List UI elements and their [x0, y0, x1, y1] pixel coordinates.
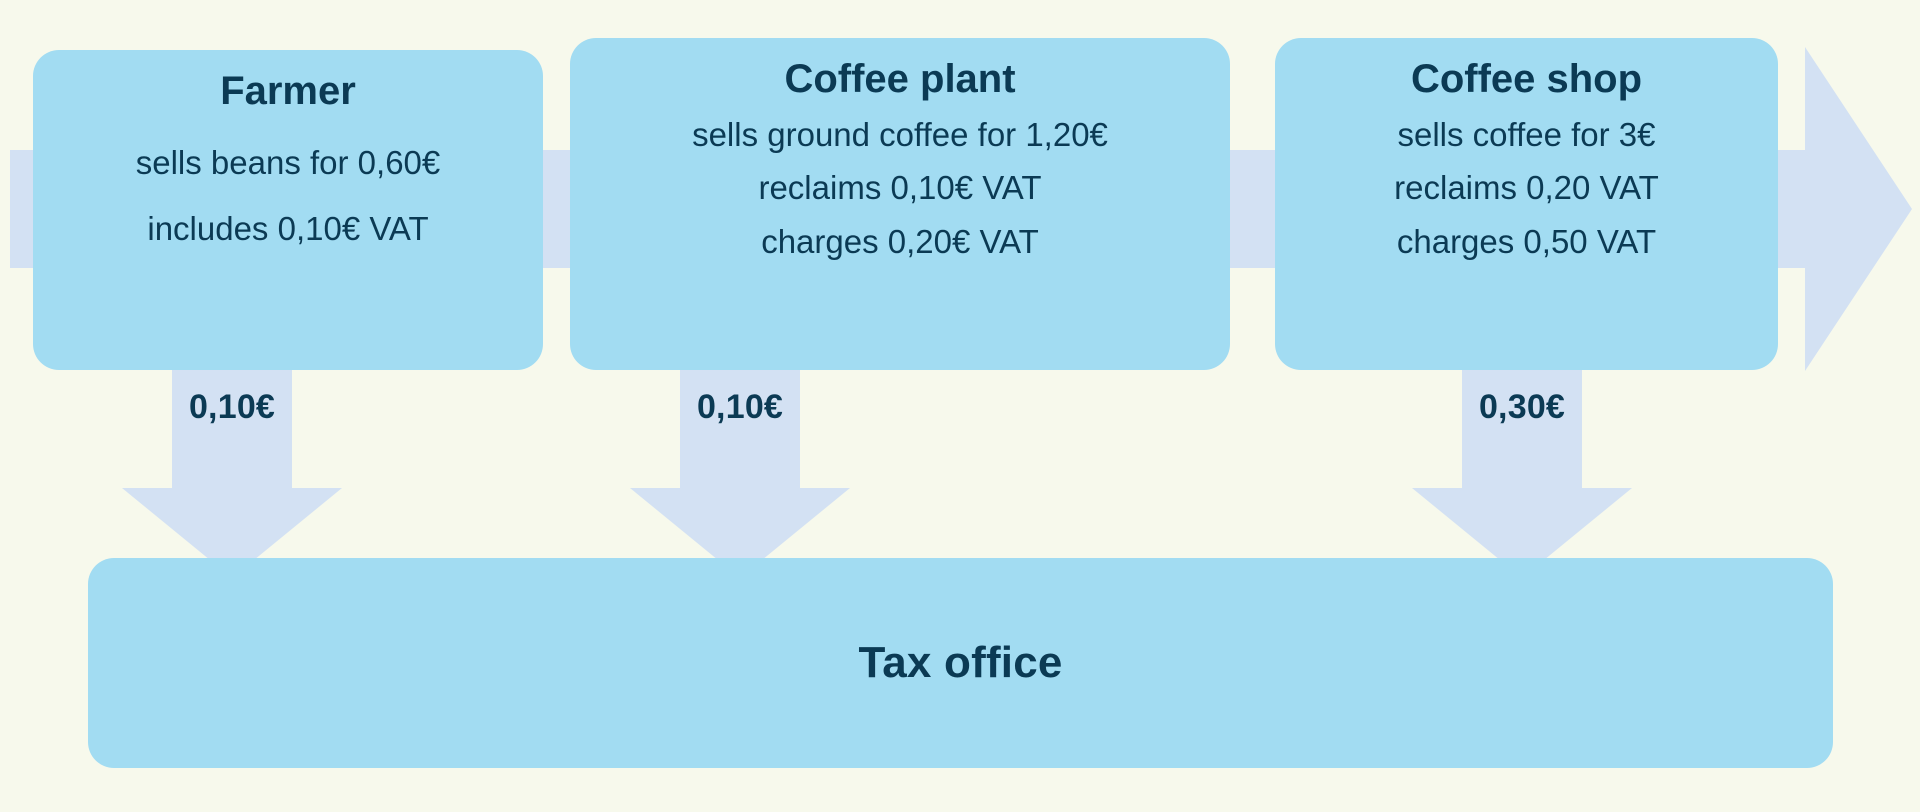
actor-detail-line: sells ground coffee for 1,20€ [692, 108, 1108, 161]
actor-detail-list-coffee-shop: sells coffee for 3€ reclaims 0,20 VAT ch… [1394, 108, 1659, 268]
tax-office-title: Tax office [858, 638, 1062, 688]
actor-title-coffee-shop: Coffee shop [1411, 52, 1642, 106]
vat-flow-diagram: 0,10€ 0,10€ 0,30€ Farmer sells beans for… [0, 0, 1920, 812]
actor-box-coffee-plant[interactable]: Coffee plant sells ground coffee for 1,2… [570, 38, 1230, 370]
tax-payment-amount-farmer: 0,10€ [122, 388, 342, 427]
actor-title-coffee-plant: Coffee plant [784, 52, 1015, 106]
tax-payment-arrow-coffee-shop: 0,30€ [1412, 370, 1632, 578]
tax-payment-arrow-farmer: 0,10€ [122, 370, 342, 578]
actor-detail-line: reclaims 0,20 VAT [1394, 161, 1659, 214]
tax-payment-amount-coffee-shop: 0,30€ [1412, 388, 1632, 427]
actor-box-coffee-shop[interactable]: Coffee shop sells coffee for 3€ reclaims… [1275, 38, 1778, 370]
tax-payment-arrow-coffee-plant: 0,10€ [630, 370, 850, 578]
actor-detail-line: includes 0,10€ VAT [147, 196, 428, 262]
actor-box-farmer[interactable]: Farmer sells beans for 0,60€ includes 0,… [33, 50, 543, 370]
actor-detail-list-farmer: sells beans for 0,60€ includes 0,10€ VAT [136, 130, 441, 262]
tax-payment-amount-coffee-plant: 0,10€ [630, 388, 850, 427]
actor-detail-line: sells beans for 0,60€ [136, 130, 441, 196]
actor-detail-line: charges 0,20€ VAT [761, 215, 1039, 268]
actor-title-farmer: Farmer [220, 64, 356, 118]
tax-office-box[interactable]: Tax office [88, 558, 1833, 768]
actor-detail-line: reclaims 0,10€ VAT [758, 161, 1041, 214]
actor-detail-line: sells coffee for 3€ [1397, 108, 1655, 161]
actor-detail-line: charges 0,50 VAT [1397, 215, 1656, 268]
actor-detail-list-coffee-plant: sells ground coffee for 1,20€ reclaims 0… [692, 108, 1108, 268]
